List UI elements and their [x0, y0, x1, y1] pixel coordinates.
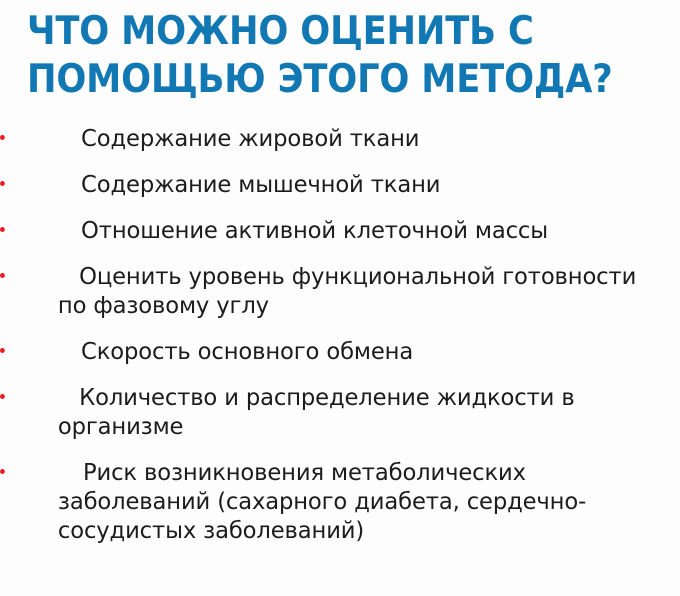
page-title: ЧТО МОЖНО ОЦЕНИТЬ С ПОМОЩЬЮ ЭТОГО МЕТОДА… [27, 8, 606, 104]
list-item-label: Содержание жировой ткани [58, 124, 656, 153]
list-item: Содержание мышечной ткани [0, 170, 656, 199]
bullet-dot-icon [0, 469, 5, 474]
bullet-dot-icon [0, 348, 5, 353]
list-item-label: Оценить уровень функциональной готовност… [58, 262, 656, 320]
bullet-dot-icon [0, 273, 5, 278]
bullet-dot-icon [0, 181, 5, 186]
slide-canvas: ЧТО МОЖНО ОЦЕНИТЬ С ПОМОЩЬЮ ЭТОГО МЕТОДА… [0, 0, 680, 596]
page-title-line-1: ЧТО МОЖНО ОЦЕНИТЬ С [27, 8, 606, 56]
bullet-dot-icon [0, 394, 5, 399]
list-item: Риск возникновения метаболических заболе… [0, 458, 656, 545]
page-title-line-2: ПОМОЩЬЮ ЭТОГО МЕТОДА? [27, 56, 606, 104]
list-item-label: Содержание мышечной ткани [58, 170, 656, 199]
list-item-label: Скорость основного обмена [58, 337, 656, 366]
list-item: Скорость основного обмена [0, 337, 656, 366]
list-item-label: Количество и распределение жидкости в ор… [58, 383, 656, 441]
list-item: Оценить уровень функциональной готовност… [0, 262, 656, 320]
bullet-list: Содержание жировой ткани Содержание мыше… [0, 124, 680, 545]
list-item: Количество и распределение жидкости в ор… [0, 383, 656, 441]
list-item-label: Отношение активной клеточной массы [58, 216, 656, 245]
bullet-dot-icon [0, 135, 5, 140]
bullet-dot-icon [0, 227, 5, 232]
list-item: Отношение активной клеточной массы [0, 216, 656, 245]
list-item-label: Риск возникновения метаболических заболе… [58, 458, 656, 545]
list-item: Содержание жировой ткани [0, 124, 656, 153]
